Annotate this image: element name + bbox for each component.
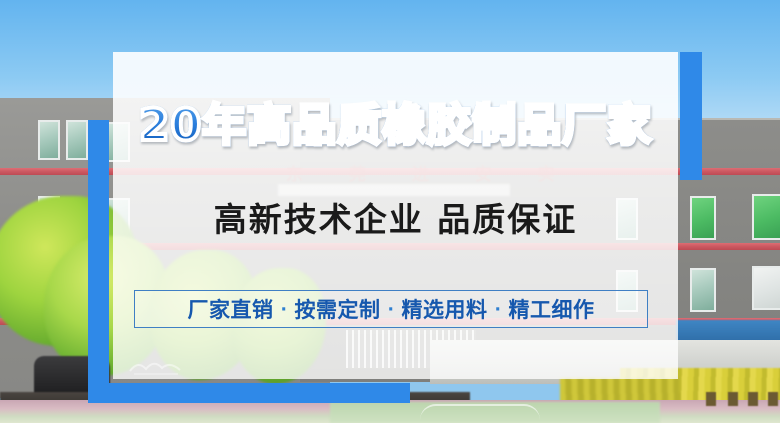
bench xyxy=(706,392,716,406)
feature-item: 按需定制 xyxy=(295,298,381,322)
window xyxy=(690,268,716,312)
feature-item: 精选用料 xyxy=(401,298,487,322)
hedge xyxy=(560,378,680,402)
bench xyxy=(748,392,758,406)
bench xyxy=(728,392,738,406)
bench xyxy=(768,392,778,406)
headline-text: 20年高品质橡胶制品厂家 xyxy=(113,104,678,148)
window xyxy=(752,194,780,240)
blue-accent-bar-right xyxy=(680,52,702,180)
window xyxy=(690,196,716,240)
window xyxy=(66,120,88,160)
blue-accent-bar-bottom xyxy=(88,383,410,403)
feature-separator: · xyxy=(487,300,508,320)
feature-list-box: 厂家直销·按需定制·精选用料·精工细作 xyxy=(134,290,648,328)
awning xyxy=(676,320,780,342)
subheadline-text: 高新技术企业 品质保证 xyxy=(113,200,678,240)
feature-item: 精工细作 xyxy=(508,298,594,322)
promotional-banner: 东 莞 进 安 实 20年高品质橡胶制品厂家 高新技术企业 品质保证 厂家直销·… xyxy=(0,0,780,423)
feature-list-text: 厂家直销·按需定制·精选用料·精工细作 xyxy=(188,294,595,324)
watermark-logo-icon xyxy=(128,356,186,376)
window xyxy=(38,120,60,160)
court-marking-line xyxy=(420,404,540,420)
window xyxy=(752,266,780,310)
feature-separator: · xyxy=(274,300,295,320)
feature-item: 厂家直销 xyxy=(188,298,274,322)
feature-separator: · xyxy=(381,300,402,320)
blue-accent-bar-left xyxy=(88,120,109,403)
